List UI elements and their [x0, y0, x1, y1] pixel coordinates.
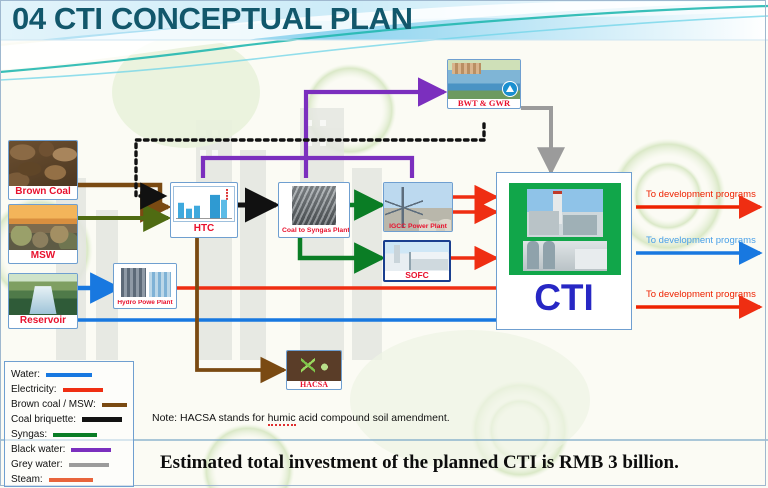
note-emphasis: humic: [268, 412, 296, 426]
legend-swatch-steam: [49, 478, 93, 482]
slide-canvas: 04 CTI CONCEPTUAL PLAN: [0, 0, 768, 488]
legend-swatch-syngas: [53, 433, 97, 437]
legend-label-brown-coal-msw: Brown coal / MSW:: [11, 399, 96, 410]
legend-swatch-brown-coal-msw: [102, 403, 127, 407]
legend-label-water: Water:: [11, 369, 40, 380]
legend-label-coal-briquette: Coal briquette:: [11, 414, 76, 425]
legend-label-syngas: Syngas:: [11, 429, 47, 440]
legend-item-coal-briquette: Coal briquette:: [11, 412, 127, 427]
investment-statement: Estimated total investment of the planne…: [160, 452, 679, 474]
note-suffix: acid compound soil amendment.: [296, 412, 450, 424]
legend-item-grey-water: Grey water:: [11, 457, 127, 472]
legend-item-black-water: Black water:: [11, 442, 127, 457]
legend-swatch-coal-briquette: [82, 417, 122, 422]
note-hacsa: Note: HACSA stands for humic acid compou…: [152, 412, 450, 424]
legend-item-water: Water:: [11, 367, 127, 382]
legend-label-grey-water: Grey water:: [11, 459, 63, 470]
legend-label-steam: Steam:: [11, 474, 43, 485]
legend-label-electricity: Electricity:: [11, 384, 57, 395]
legend: Water: Electricity: Brown coal / MSW: Co…: [4, 361, 134, 487]
legend-swatch-black-water: [71, 448, 111, 452]
note-prefix: Note: HACSA stands for: [152, 412, 268, 424]
legend-swatch-water: [46, 373, 92, 377]
legend-swatch-electricity: [63, 388, 103, 392]
legend-item-syngas: Syngas:: [11, 427, 127, 442]
legend-item-steam: Steam:: [11, 472, 127, 487]
legend-item-electricity: Electricity:: [11, 382, 127, 397]
legend-label-black-water: Black water:: [11, 444, 65, 455]
legend-item-brown-coal-msw: Brown coal / MSW:: [11, 397, 127, 412]
legend-swatch-grey-water: [69, 463, 109, 467]
